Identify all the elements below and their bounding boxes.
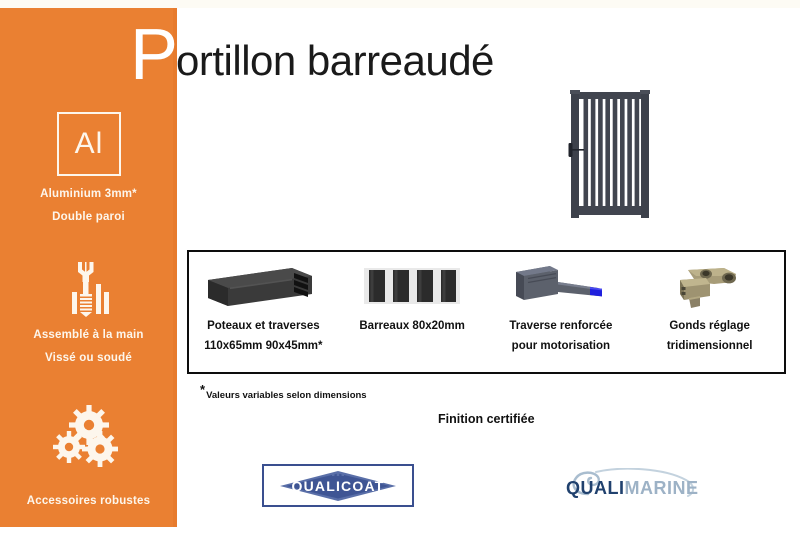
- sidebar-label-assembly-1: Assemblé à la main: [0, 329, 177, 341]
- qualimarine-logo: QUALIMARINE: [560, 468, 710, 504]
- component-caption-hinge-line2: tridimensionnel: [667, 338, 753, 355]
- page-title: P ortillon barreaudé: [130, 22, 494, 82]
- qualimarine-word-secondary: MARINE: [625, 478, 699, 498]
- sidebar-label-aluminium-1: Aluminium 3mm*: [0, 188, 177, 200]
- title-drop-cap: P: [130, 26, 178, 85]
- wrench-assembly-icon: [0, 258, 177, 320]
- components-panel: Poteaux et traverses 110x65mm 90x45mm*: [187, 250, 786, 374]
- adjustable-hinge-icon: [635, 260, 784, 312]
- aluminium-al-badge-icon: Al: [57, 112, 121, 176]
- qualicoat-wordmark: QUALICOAT: [292, 478, 385, 494]
- component-cell-hinge: Gonds réglage tridimensionnel: [635, 252, 784, 372]
- qualicoat-logo: QUALICOAT: [262, 464, 414, 507]
- component-caption-posts-line1: Poteaux et traverses: [203, 318, 324, 335]
- certification-heading: Finition certifiée: [438, 412, 535, 426]
- sidebar-label-assembly-2: Vissé ou soudé: [0, 352, 177, 364]
- title-text: ortillon barreaudé: [176, 40, 494, 82]
- top-strip: [0, 0, 800, 8]
- motorisation-crossbar-icon: [487, 260, 636, 312]
- aluminium-post-profile-icon: [189, 260, 338, 312]
- component-caption-hinge-line1: Gonds réglage: [665, 318, 754, 335]
- qualimarine-word-primary: QUALI: [566, 478, 625, 498]
- component-caption-bars-line1: Barreaux 80x20mm: [355, 318, 469, 335]
- bars-sample-icon: [338, 260, 487, 312]
- component-cell-posts: Poteaux et traverses 110x65mm 90x45mm*: [189, 252, 338, 372]
- footnote: *Valeurs variables selon dimensions: [200, 382, 367, 401]
- gate-with-vertical-bars: [567, 88, 653, 221]
- al-badge-label: Al: [75, 129, 104, 159]
- sidebar-label-aluminium-2: Double paroi: [0, 211, 177, 223]
- component-caption-motorisation-line1: Traverse renforcée: [505, 318, 616, 335]
- sidebar-label-accessories: Accessoires robustes: [0, 495, 177, 507]
- component-caption-posts-line2: 110x65mm 90x45mm*: [204, 338, 322, 355]
- footnote-marker: *: [200, 382, 205, 397]
- component-cell-bars: Barreaux 80x20mm: [338, 252, 487, 372]
- qualimarine-wordmark: QUALIMARINE: [566, 478, 699, 499]
- component-caption-motorisation-line2: pour motorisation: [512, 338, 610, 355]
- component-cell-motorisation: Traverse renforcée pour motorisation: [487, 252, 636, 372]
- gears-icon: [0, 405, 177, 467]
- footnote-text: Valeurs variables selon dimensions: [206, 390, 367, 401]
- datasheet-page: Al Aluminium 3mm* Double paroi Assemblé …: [0, 0, 800, 534]
